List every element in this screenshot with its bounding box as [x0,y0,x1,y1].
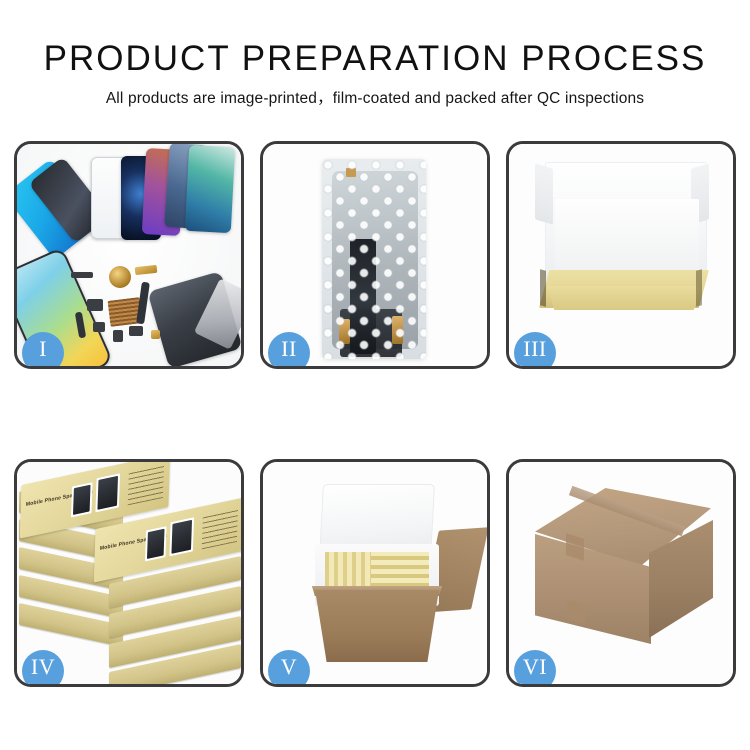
gold-contact-graphic [135,265,158,275]
step-badge-6: VI [514,650,556,687]
flex-cable-graphic [136,282,150,325]
box-spec-lines-graphic [128,465,164,505]
page-subtitle: All products are image-printed，film-coat… [0,89,750,109]
small-part-graphic [129,326,143,336]
process-step-6[interactable]: VI [506,459,736,687]
speaker-module-graphic [109,266,131,288]
small-part-graphic [93,322,105,332]
box-window-graphic [71,482,93,517]
teal-phone-graphic [185,145,235,233]
process-grid: I II [14,141,736,687]
box-edge-right-graphic [696,269,702,306]
step-badge-2: II [268,332,310,369]
bubble-texture-graphic [322,159,426,359]
box-window-graphic [169,517,194,556]
process-step-5[interactable]: V [260,459,490,687]
process-step-1[interactable]: I [14,141,244,369]
small-part-graphic [71,272,93,278]
step-badge-3: III [514,332,556,369]
box-window-graphic [95,473,120,512]
poster-page: PRODUCT PREPARATION PROCESS All products… [0,0,750,750]
box-window-graphic [145,526,167,561]
process-step-3[interactable]: III [506,141,736,369]
small-part-graphic [87,299,103,311]
foam-sheet-graphic [555,199,699,277]
gold-contact-graphic [151,330,160,339]
step-badge-5: V [268,650,310,687]
process-step-2[interactable]: II [260,141,490,369]
step-badge-1: I [22,332,64,369]
step-badge-4: IV [22,650,64,687]
kraft-box-front-graphic [541,286,707,310]
header: PRODUCT PREPARATION PROCESS All products… [0,38,750,109]
small-part-graphic [113,330,123,342]
box-edge-left-graphic [540,269,546,306]
bubble-pouch-graphic [322,159,426,359]
page-title: PRODUCT PREPARATION PROCESS [0,38,750,80]
carton-body-graphic [305,590,449,662]
lid-flap-left-graphic [535,163,553,224]
box-spec-lines-graphic [202,509,238,549]
process-step-4[interactable]: Mobile Phone Spare Parts Mobile Phone Sp… [14,459,244,687]
